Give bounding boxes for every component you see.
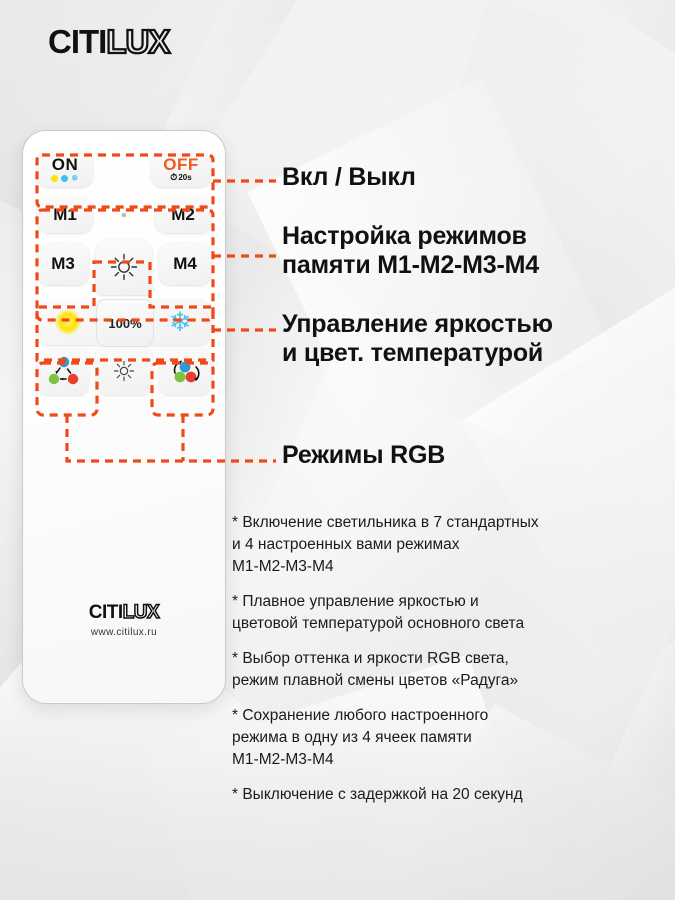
off-delay-indicator: ⏱ 20s — [170, 173, 191, 182]
warm-light-button[interactable] — [45, 301, 91, 343]
brand-logo-solid: CITI — [48, 25, 106, 58]
brand-logo-top: CITILUX — [48, 25, 169, 58]
sun-dim-icon — [111, 358, 137, 384]
brand-logo-bottom-text: CITILUX — [89, 603, 159, 622]
full-brightness-button[interactable]: 100% — [96, 299, 154, 347]
callout-memory: Настройка режимов памяти M1-M2-M3-M4 — [282, 222, 539, 280]
brand-logo-outline: LUX — [106, 25, 169, 58]
on-button-icons: ❅ — [51, 174, 79, 182]
off-button-label: OFF — [163, 156, 199, 173]
callout-power: Вкл / Выкл — [282, 163, 416, 192]
cool-light-button[interactable]: ❄ — [157, 301, 203, 343]
memory-button-m4[interactable]: M4 — [159, 243, 211, 285]
brand-website-url: www.citilux.ru — [37, 627, 211, 638]
on-button-label: ON — [52, 156, 79, 173]
callout-brightness: Управление яркостью и цвет. температурой — [282, 310, 553, 368]
led-indicator-icon — [122, 213, 126, 217]
warm-dot-icon — [51, 175, 58, 182]
cool-snowflake-icon: ❄ — [169, 309, 192, 336]
infographic-page: CITILUX ON ❅ OFF ⏱ 20s — [0, 0, 675, 900]
remote-keypad: ON ❅ OFF ⏱ 20s M1 — [37, 151, 211, 395]
feature-note: * Включение светильника в 7 стандартных … — [232, 512, 662, 578]
feature-note: * Плавное управление яркостью и цветовой… — [232, 591, 662, 635]
callout-rgb: Режимы RGB — [282, 441, 445, 470]
feature-note: * Выключение с задержкой на 20 секунд — [232, 784, 662, 806]
rgb-color-select-button[interactable] — [37, 347, 89, 395]
feature-notes-list: * Включение светильника в 7 стандартных … — [232, 512, 662, 819]
memory-button-m1[interactable]: M1 — [37, 197, 93, 233]
warm-light-icon — [55, 309, 81, 335]
clock-icon: ⏱ — [170, 173, 177, 182]
rgb-rainbow-cycle-icon — [166, 354, 204, 388]
rgb-color-select-icon — [45, 354, 81, 388]
control-cluster: M3 M4 — [37, 243, 211, 395]
cool-dot-icon — [61, 175, 68, 182]
on-button[interactable]: ON ❅ — [37, 151, 93, 187]
remote-control-body: ON ❅ OFF ⏱ 20s M1 — [22, 130, 226, 704]
power-row: ON ❅ OFF ⏱ 20s — [37, 151, 211, 187]
snowflake-icon: ❅ — [71, 174, 79, 182]
sun-bright-icon — [109, 252, 139, 282]
brightness-up-button[interactable] — [96, 239, 152, 295]
feature-note: * Сохранение любого настроенного режима … — [232, 705, 662, 771]
off-button[interactable]: OFF ⏱ 20s — [151, 151, 211, 187]
memory-button-m3[interactable]: M3 — [37, 243, 89, 285]
memory-row-top: M1 M2 — [37, 197, 211, 233]
off-delay-label: 20s — [178, 174, 191, 182]
feature-note: * Выбор оттенка и яркости RGB света, реж… — [232, 648, 662, 692]
brightness-down-button[interactable] — [96, 347, 152, 395]
brand-logo-bottom: CITILUX www.citilux.ru — [37, 603, 211, 638]
brand-logo-bottom-solid: CITI — [89, 603, 123, 622]
rgb-rainbow-cycle-button[interactable] — [159, 347, 211, 395]
brand-logo-bottom-outline: LUX — [123, 603, 160, 622]
memory-button-m2[interactable]: M2 — [155, 197, 211, 233]
